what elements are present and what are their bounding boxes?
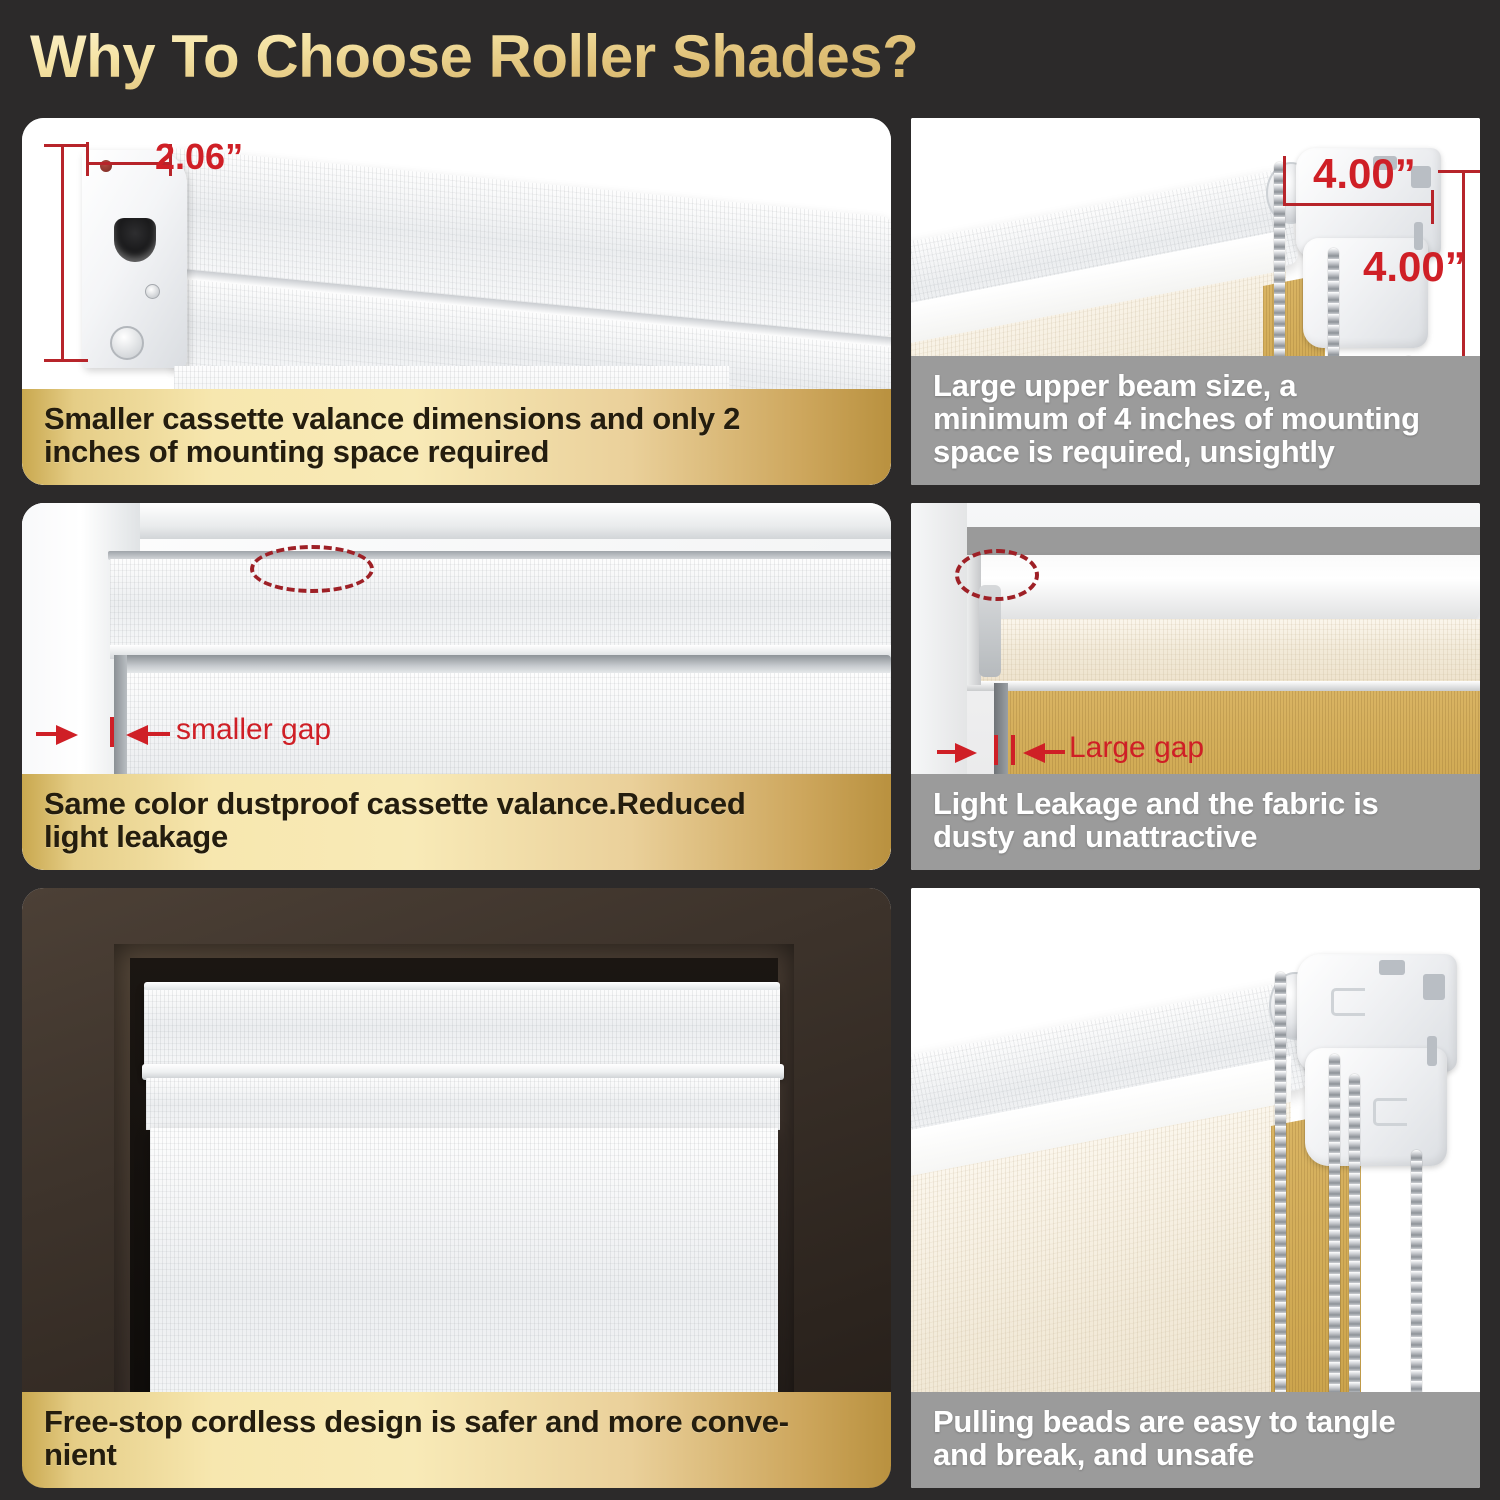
gap-arrow-right-icon	[126, 725, 148, 745]
height-dimension-line	[61, 144, 64, 362]
gap-arrow-left-icon	[56, 725, 78, 745]
gap-arrow-right-stem	[1045, 750, 1065, 754]
bracket-slot-notch	[1379, 960, 1405, 975]
caption-line: Smaller cassette valance dimensions and …	[44, 403, 869, 436]
gap-annotation-label: smaller gap	[176, 713, 331, 747]
width-tick-left	[86, 142, 89, 176]
panel-top-left: 2.06” 5.49” Smaller cassette valance dim…	[22, 118, 891, 485]
bracket-slot-mid	[1427, 1036, 1437, 1066]
roller-bar	[114, 655, 891, 675]
caption-line: and break, and unsafe	[933, 1439, 1458, 1472]
panel-top-right: 4.00” 4.00” Large upper beam size, a min…	[911, 118, 1480, 485]
height-tick-top	[44, 144, 86, 147]
caption-line: inches of mounting space required	[44, 436, 869, 469]
caption-line: dusty and unattractive	[933, 821, 1458, 854]
gap-marker-bar-b	[1011, 735, 1015, 765]
bracket-logo-lower-icon	[1373, 1098, 1407, 1126]
fabric-cream-band	[967, 619, 1480, 685]
beam-width-tick-right	[1431, 190, 1434, 224]
upper-beam	[967, 555, 1480, 623]
beam-width-dimension-label: 4.00”	[1313, 150, 1416, 198]
bracket-slot-top	[1423, 974, 1445, 1000]
caption-line: Large upper beam size, a	[933, 370, 1458, 403]
caption-bottom-right: Pulling beads are easy to tangle and bre…	[911, 1392, 1480, 1488]
caption-line: Same color dustproof cassette valance.Re…	[44, 788, 869, 821]
panel-middle-left: smaller gap Same color dustproof cassett…	[22, 503, 891, 870]
caption-line: Pulling beads are easy to tangle	[933, 1406, 1458, 1439]
fabric-band-edge	[967, 681, 1480, 691]
caption-line: nient	[44, 1439, 869, 1472]
caption-middle-left: Same color dustproof cassette valance.Re…	[22, 774, 891, 870]
beam-height-tick-top	[1438, 170, 1480, 173]
highlight-ellipse	[955, 549, 1039, 601]
gap-arrow-left-icon	[955, 743, 977, 763]
gap-arrow-left-stem	[36, 732, 58, 736]
bracket-logo-icon	[1331, 988, 1365, 1016]
cassette-front	[110, 559, 891, 649]
caption-top-left: Smaller cassette valance dimensions and …	[22, 389, 891, 485]
gap-marker-bar-a	[994, 735, 998, 765]
caption-top-right: Large upper beam size, a minimum of 4 in…	[911, 356, 1480, 485]
panel-middle-right: Large gap Light Leakage and the fabric i…	[911, 503, 1480, 870]
comparison-grid: 2.06” 5.49” Smaller cassette valance dim…	[22, 118, 1480, 1488]
caption-line: Light Leakage and the fabric is	[933, 788, 1458, 821]
panel-bottom-left: Free-stop cordless design is safer and m…	[22, 888, 891, 1488]
panel-bottom-right: Pulling beads are easy to tangle and bre…	[911, 888, 1480, 1488]
cassette-valance	[144, 986, 780, 1068]
valance-lower-skirt	[146, 1078, 780, 1130]
beam-height-dimension-label: 4.00”	[1363, 243, 1466, 291]
screw-bottom-icon	[110, 326, 144, 360]
caption-line: Free-stop cordless design is safer and m…	[44, 1406, 869, 1439]
gap-annotation-label: Large gap	[1069, 731, 1204, 765]
infographic-page: Why To Choose Roller Shades?	[0, 0, 1500, 1500]
width-dimension-label: 2.06”	[155, 136, 243, 178]
height-tick-bottom	[44, 359, 88, 362]
window-trim-top	[22, 503, 891, 539]
caption-line: minimum of 4 inches of mounting	[933, 403, 1458, 436]
caption-line: space is required, unsightly	[933, 436, 1458, 469]
gap-arrow-right-stem	[148, 732, 170, 736]
beam-width-dimension-line	[1283, 203, 1433, 206]
page-title: Why To Choose Roller Shades?	[30, 22, 918, 91]
beam-width-tick-left	[1283, 156, 1286, 206]
screw-mid-icon	[145, 284, 160, 299]
caption-middle-right: Light Leakage and the fabric is dusty an…	[911, 774, 1480, 870]
gap-arrow-right-icon	[1023, 743, 1045, 763]
highlight-ellipse	[250, 545, 374, 593]
caption-bottom-left: Free-stop cordless design is safer and m…	[22, 1392, 891, 1488]
valance-top-highlight	[144, 982, 780, 990]
caption-line: light leakage	[44, 821, 869, 854]
gap-arrow-left-stem	[937, 750, 957, 754]
gap-marker-bar	[110, 717, 114, 747]
clutch-opening	[114, 218, 156, 262]
